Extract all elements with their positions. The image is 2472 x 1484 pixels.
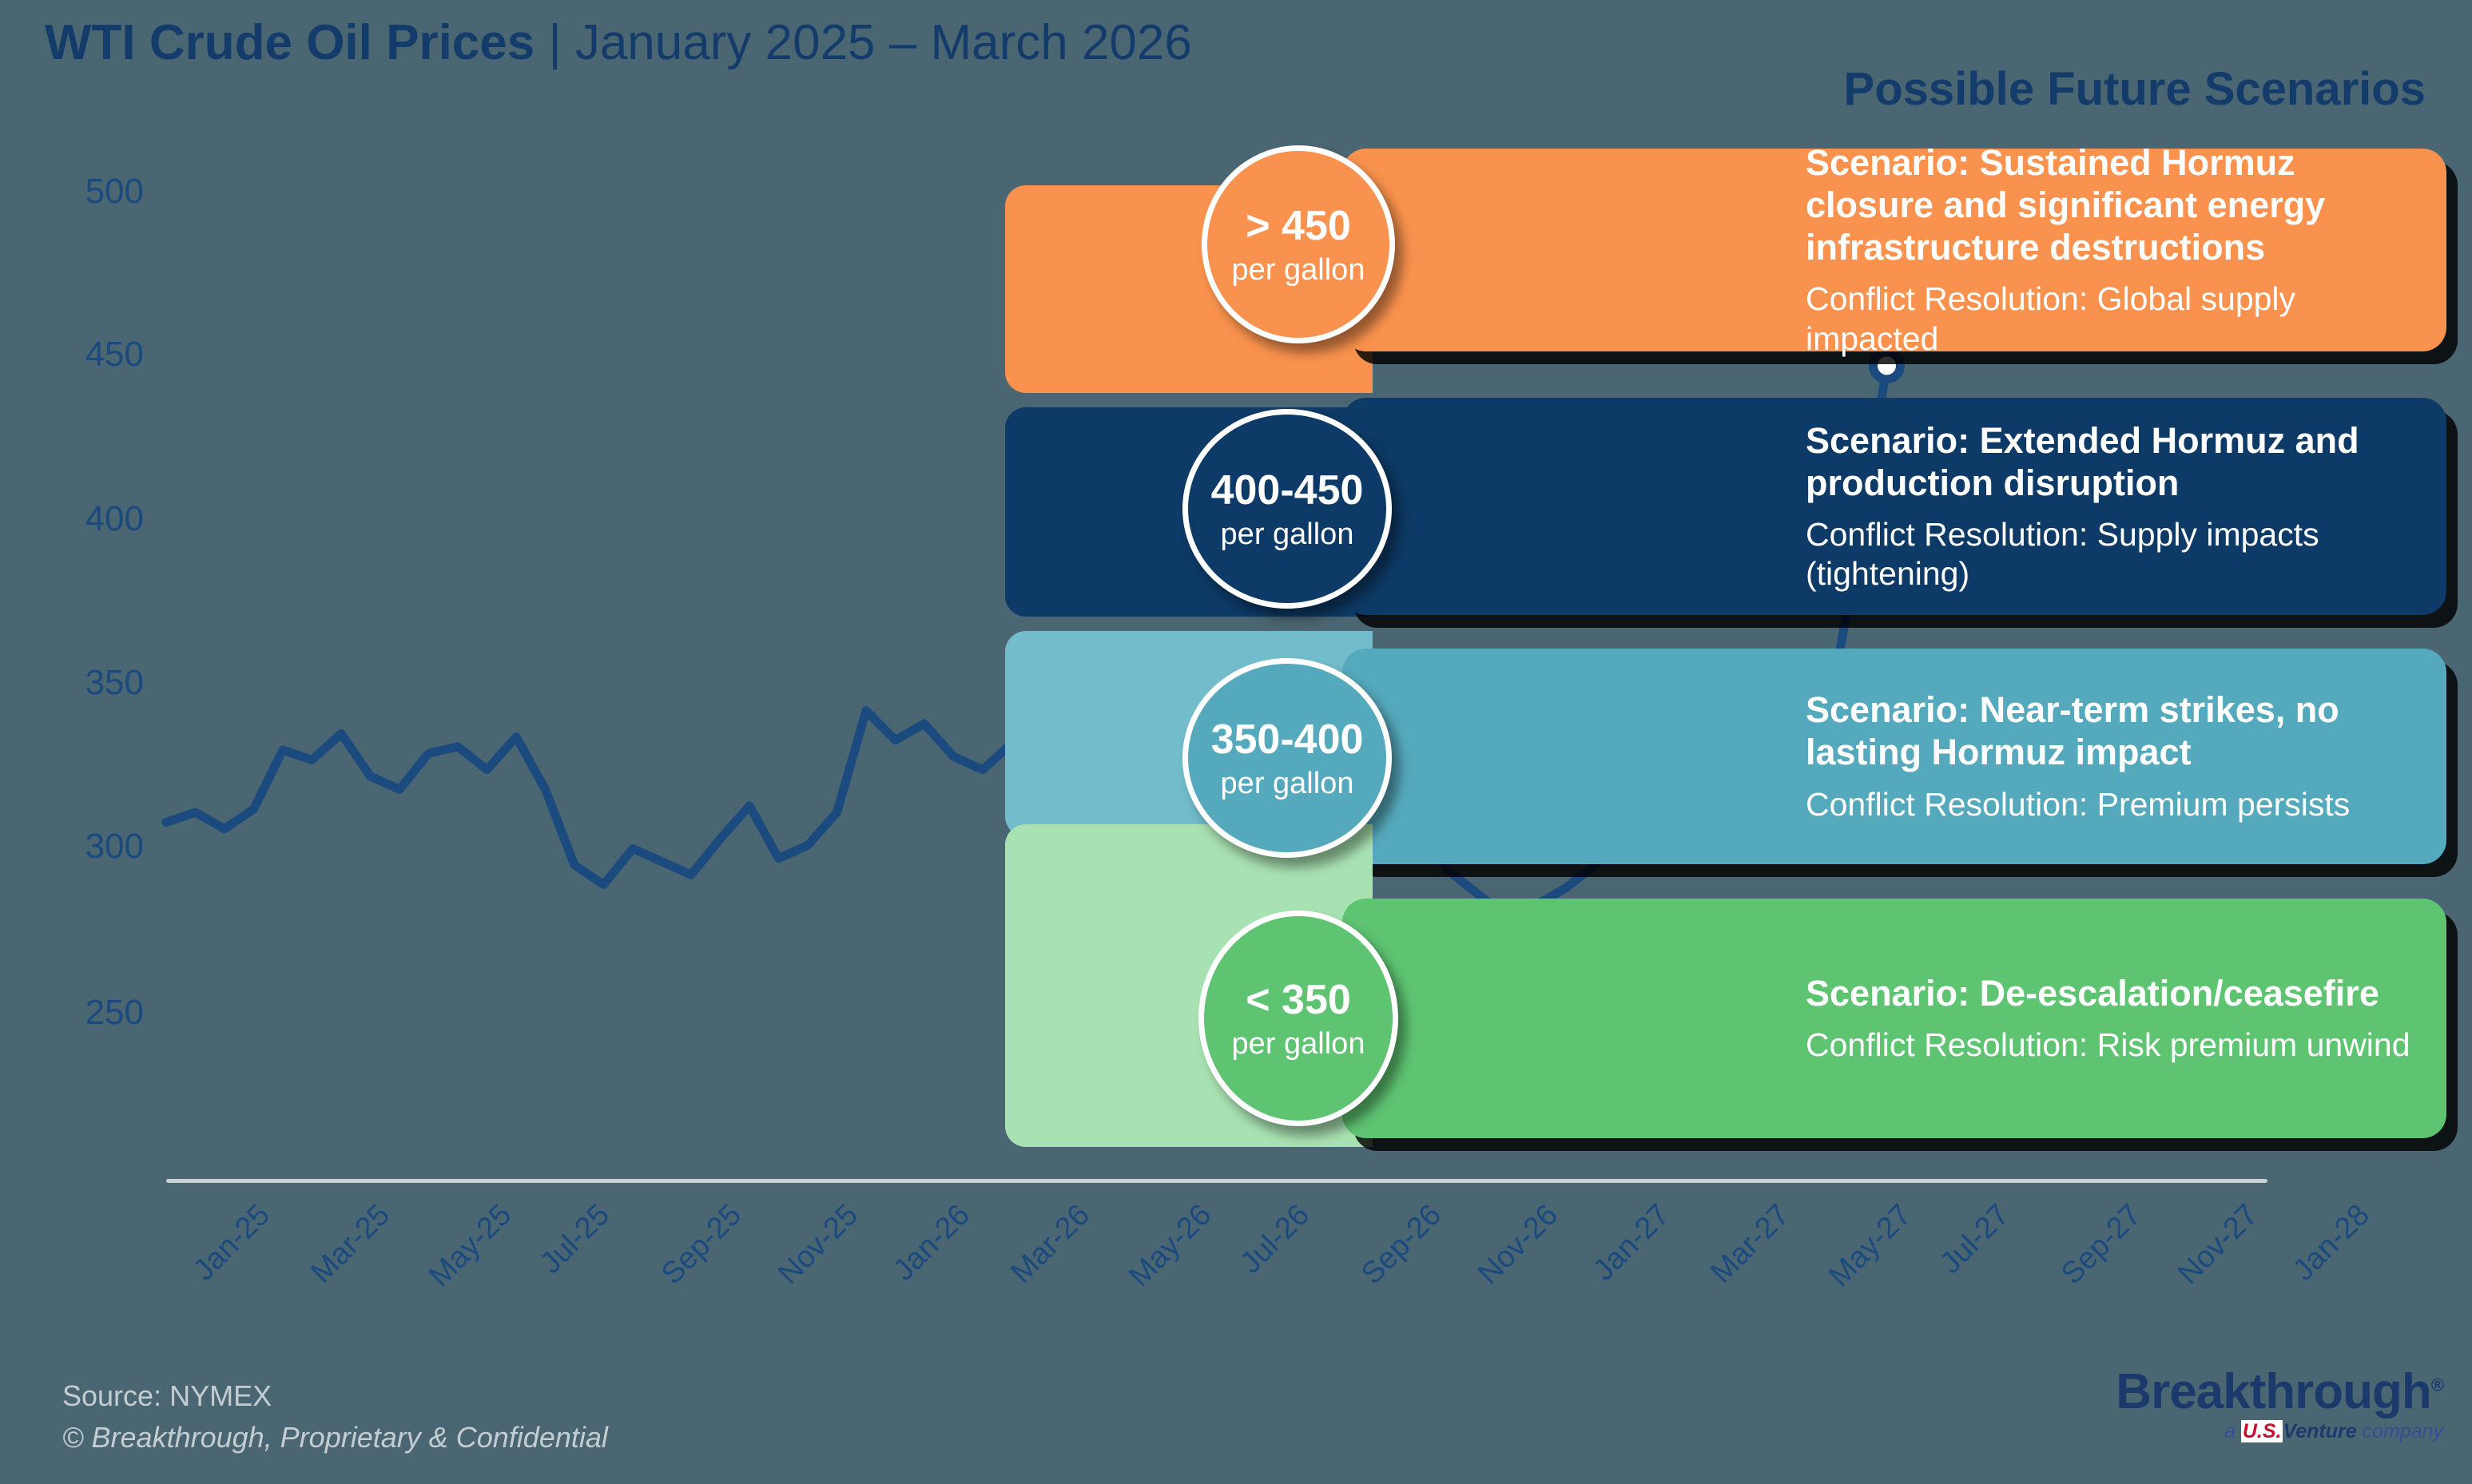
scenario-unit-400-450: per gallon [1221,518,1354,552]
logo-tag-venture: Venture [2283,1420,2356,1442]
scenario-unit-below-350: per gallon [1232,1027,1365,1061]
scenario-body-400-450[interactable]: Scenario: Extended Hormuz and production… [1342,398,2446,615]
scenario-body-above-450[interactable]: Scenario: Sustained Hormuz closure and s… [1342,149,2446,351]
scenario-bubble-below-350[interactable]: < 350 per gallon [1198,911,1398,1126]
page-title-separator: | [535,15,575,70]
scenario-bubble-400-450[interactable]: 400-450 per gallon [1182,409,1392,609]
logo-wordmark: Breakthrough® [2116,1367,2443,1417]
scenario-value-below-350: < 350 [1246,976,1351,1024]
footer-source-block: Source: NYMEX © Breakthrough, Proprietar… [62,1375,608,1458]
scenario-value-above-450: > 450 [1246,202,1351,250]
scenario-bubble-350-400[interactable]: 350-400 per gallon [1182,658,1392,858]
scenario-bubble-above-450[interactable]: > 450 per gallon [1202,145,1395,343]
scenario-resolution-350-400: Conflict Resolution: Premium persists [1806,785,2414,824]
scenario-title-above-450: Scenario: Sustained Hormuz closure and s… [1806,141,2414,268]
scenario-title-350-400: Scenario: Near-term strikes, no lasting … [1806,688,2414,773]
scenario-resolution-below-350: Conflict Resolution: Risk premium unwind [1806,1026,2414,1065]
breakthrough-logo: Breakthrough® a U.S.Venture company [2116,1367,2443,1443]
registered-trademark-icon: ® [2431,1375,2443,1395]
logo-tag-company: company [2357,1420,2443,1442]
copyright-label: © Breakthrough, Proprietary & Confidenti… [62,1417,608,1458]
scenario-resolution-above-450: Conflict Resolution: Global supply impac… [1806,280,2414,358]
scenario-body-350-400[interactable]: Scenario: Near-term strikes, no lasting … [1342,649,2446,864]
logo-tagline: a U.S.Venture company [2116,1420,2443,1443]
scenario-title-400-450: Scenario: Extended Hormuz and production… [1806,419,2414,504]
scenario-title-below-350: Scenario: De-escalation/ceasefire [1806,972,2414,1014]
logo-tag-us: U.S. [2241,1420,2283,1442]
scenario-value-350-400: 350-400 [1211,716,1364,764]
scenario-unit-above-450: per gallon [1232,253,1365,288]
page-title-range: January 2025 – March 2026 [575,15,1192,70]
source-label: Source: NYMEX [62,1375,608,1417]
scenarios-header: Possible Future Scenarios [1844,62,2426,116]
page-title-strong: WTI Crude Oil Prices [45,15,535,70]
page-title: WTI Crude Oil Prices | January 2025 – Ma… [45,14,1192,71]
scenario-body-below-350[interactable]: Scenario: De-escalation/ceasefire Confli… [1342,899,2446,1138]
scenario-value-400-450: 400-450 [1211,466,1364,514]
scenario-resolution-400-450: Conflict Resolution: Supply impacts (tig… [1806,515,2414,593]
logo-name: Breakthrough [2116,1364,2430,1419]
scenario-unit-350-400: per gallon [1221,767,1354,801]
logo-tag-a: a [2224,1420,2241,1442]
